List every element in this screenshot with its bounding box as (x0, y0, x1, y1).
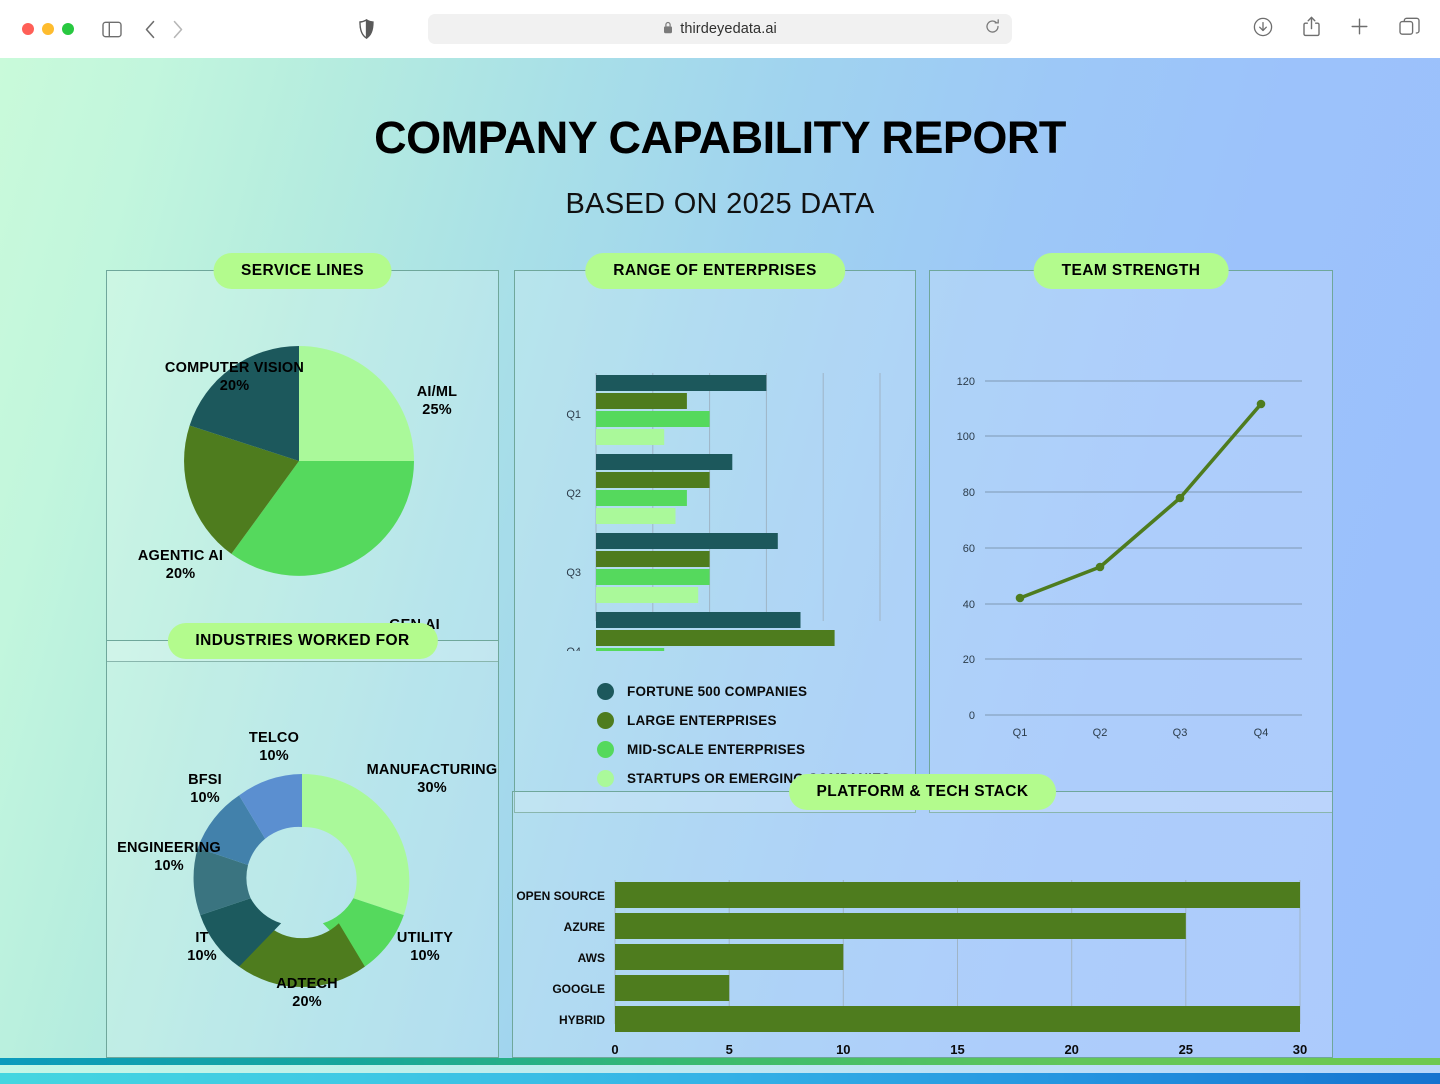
legend-item-large: LARGE ENTERPRISES (597, 712, 891, 729)
browser-chrome: thirdeyedata.ai (0, 0, 1440, 58)
report-page: COMPANY CAPABILITY REPORT BASED ON 2025 … (0, 58, 1440, 1084)
pie-label-agentic-ai: AGENTIC AI 20% (113, 547, 248, 583)
address-bar[interactable]: thirdeyedata.ai (428, 14, 1012, 44)
bar-q4-fortune500 (596, 612, 801, 628)
plus-icon[interactable] (1350, 17, 1369, 36)
donut-label-bfsi: BFSI 10% (155, 771, 255, 807)
donut-label-adtech: ADTECH 20% (247, 975, 367, 1011)
ytick-60: 60 (963, 543, 975, 555)
bar-aws (615, 944, 843, 970)
privacy-shield-icon[interactable] (359, 19, 374, 39)
line-point-q3 (1176, 494, 1185, 503)
bar-q3-fortune500 (596, 533, 778, 549)
card-service-lines: SERVICE LINES COMPUTER VISION 20% AI/ML … (106, 270, 499, 662)
legend-item-midscale: MID-SCALE ENTERPRISES (597, 741, 891, 758)
legend-label-fortune500: FORTUNE 500 COMPANIES (627, 684, 807, 699)
ytick-q1: Q1 (566, 409, 581, 421)
bar-q1-large (596, 393, 687, 409)
xtick-5: 5 (726, 1042, 733, 1057)
donut-label-it: IT 10% (167, 929, 237, 965)
page-subtitle: BASED ON 2025 DATA (0, 188, 1440, 221)
ytick-q3: Q3 (566, 567, 581, 579)
pie-label-computer-vision: COMPUTER VISION 20% (142, 359, 327, 395)
bar-q2-startups (596, 508, 676, 524)
card-title-tech-stack: PLATFORM & TECH STACK (789, 774, 1057, 810)
bar-hybrid (615, 1006, 1300, 1032)
line-series-team-strength (1020, 404, 1261, 598)
minimize-window-button[interactable] (42, 23, 54, 35)
back-chevron-icon[interactable] (144, 20, 156, 39)
ytick-40: 40 (963, 599, 975, 611)
bar-q2-large (596, 472, 710, 488)
bar-q2-midscale (596, 490, 687, 506)
card-title-industries: INDUSTRIES WORKED FOR (167, 623, 437, 659)
xtick-20: 20 (1064, 1042, 1078, 1057)
download-icon[interactable] (1253, 17, 1273, 37)
sidebar-toggle-icon[interactable] (102, 21, 122, 38)
card-title-enterprises: RANGE OF ENTERPRISES (585, 253, 845, 289)
ytick-aws: AWS (578, 951, 605, 965)
window-controls[interactable] (22, 23, 74, 35)
card-enterprises: RANGE OF ENTERPRISES (514, 270, 916, 813)
legend-swatch-fortune500 (597, 683, 614, 700)
card-industries: INDUSTRIES WORKED FOR TELCO 10% BFSI 10% (106, 640, 499, 1058)
stripe-light (0, 1065, 1440, 1073)
ytick-azure: AZURE (564, 920, 605, 934)
legend-swatch-large (597, 712, 614, 729)
donut-label-telco: TELCO 10% (219, 729, 329, 765)
ytick-q4: Q4 (566, 646, 581, 651)
legend-item-fortune500: FORTUNE 500 COMPANIES (597, 683, 891, 700)
xtick-30: 30 (1293, 1042, 1307, 1057)
bar-q1-fortune500 (596, 375, 766, 391)
bar-google (615, 975, 729, 1001)
ytick-120: 120 (957, 376, 975, 388)
forward-chevron-icon[interactable] (172, 20, 184, 39)
range-of-enterprises-bar-chart: Q1 Q2 Q3 Q4 0 5 10 15 20 25 (515, 271, 915, 651)
card-title-team-strength: TEAM STRENGTH (1034, 253, 1229, 289)
donut-label-utility: UTILITY 10% (379, 929, 471, 965)
ytick-20: 20 (963, 654, 975, 666)
gridlines (985, 381, 1302, 715)
tab-overview-icon[interactable] (1399, 17, 1420, 36)
xtick-25: 25 (1179, 1042, 1193, 1057)
close-window-button[interactable] (22, 23, 34, 35)
bar-q2-fortune500 (596, 454, 732, 470)
line-point-q2 (1096, 563, 1105, 572)
line-point-q1 (1016, 594, 1025, 603)
page-title: COMPANY CAPABILITY REPORT (0, 112, 1440, 164)
bar-q3-large (596, 551, 710, 567)
bar-open-source (615, 882, 1300, 908)
legend-label-large: LARGE ENTERPRISES (627, 713, 777, 728)
legend-swatch-startups (597, 770, 614, 787)
ytick-0: 0 (969, 710, 975, 722)
ytick-google: GOOGLE (552, 982, 605, 996)
xtick-q1: Q1 (1013, 727, 1028, 739)
donut-label-engineering: ENGINEERING 10% (105, 839, 233, 875)
ytick-open-source: OPEN SOURCE (516, 889, 605, 903)
card-tech-stack: PLATFORM & TECH STACK OPEN SOURCE AZURE … (512, 791, 1333, 1058)
bar-q1-startups (596, 429, 664, 445)
xtick-0: 0 (611, 1042, 618, 1057)
donut-label-manufacturing: MANUFACTURING 30% (362, 761, 502, 797)
legend-label-midscale: MID-SCALE ENTERPRISES (627, 742, 805, 757)
line-point-q4 (1257, 400, 1266, 409)
card-title-service-lines: SERVICE LINES (213, 253, 392, 289)
stripe-cyan-blue (0, 1073, 1440, 1084)
xtick-q4: Q4 (1254, 727, 1269, 739)
bar-azure (615, 913, 1186, 939)
ytick-100: 100 (957, 431, 975, 443)
bar-q3-startups (596, 587, 698, 603)
team-strength-line-chart: 120 100 80 60 40 20 0 Q1 Q2 Q3 Q4 (930, 271, 1332, 812)
xtick-q3: Q3 (1173, 727, 1188, 739)
bar-q4-midscale (596, 648, 664, 651)
xtick-q2: Q2 (1093, 727, 1108, 739)
lock-icon (663, 21, 673, 37)
reload-icon[interactable] (985, 19, 1000, 39)
url-text: thirdeyedata.ai (680, 21, 777, 37)
ytick-hybrid: HYBRID (559, 1013, 605, 1027)
xtick-10: 10 (836, 1042, 850, 1057)
ytick-80: 80 (963, 487, 975, 499)
pie-label-ai-ml: AI/ML 25% (387, 383, 487, 419)
stripe-teal-green (0, 1058, 1440, 1065)
bar-q4-large (596, 630, 835, 646)
maximize-window-button[interactable] (62, 23, 74, 35)
service-lines-pie-chart (107, 271, 498, 661)
platform-tech-stack-bar-chart: OPEN SOURCE AZURE AWS GOOGLE HYBRID 0 5 … (513, 792, 1332, 1057)
bottom-decorative-stripes (0, 1058, 1440, 1084)
ytick-q2: Q2 (566, 488, 581, 500)
xtick-15: 15 (950, 1042, 964, 1057)
card-team-strength: TEAM STRENGTH 120 100 80 60 40 20 (929, 270, 1333, 813)
legend-swatch-midscale (597, 741, 614, 758)
bar-q3-midscale (596, 569, 710, 585)
bar-q1-midscale (596, 411, 710, 427)
share-icon[interactable] (1303, 16, 1320, 37)
